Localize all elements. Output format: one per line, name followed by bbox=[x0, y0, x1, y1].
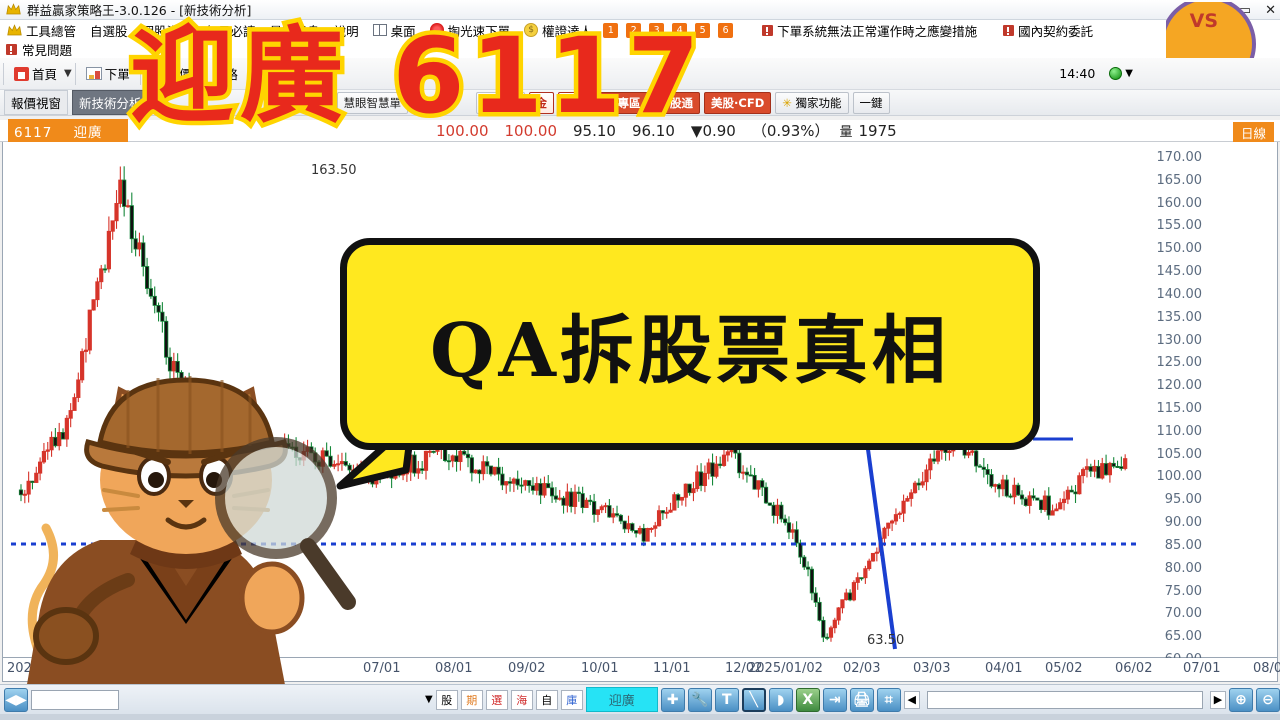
button-gold[interactable]: 金 bbox=[529, 92, 555, 114]
sub-menu-bar: 常見問題 bbox=[0, 40, 1280, 58]
small-tab-inventory[interactable]: 庫 bbox=[561, 690, 583, 710]
green-dot-icon bbox=[1109, 67, 1122, 80]
x-axis-tick: 02/03 bbox=[843, 661, 880, 676]
y-axis-tick: 120.00 bbox=[1138, 378, 1202, 393]
symbol-input[interactable] bbox=[31, 690, 119, 710]
toolbar-label: 報價 bbox=[167, 64, 192, 83]
x-axis-tick: 2025/01/02 bbox=[748, 661, 823, 676]
menu-label: 個股資訊 bbox=[142, 21, 192, 40]
tab-quote-window[interactable]: 報價視窗 bbox=[4, 90, 68, 115]
x-axis: 2024/07/0108/0109/0210/0111/0112/022025/… bbox=[2, 658, 1278, 682]
tab-new-technical-analysis[interactable]: 新技術分析 bbox=[72, 90, 149, 115]
application-window: 群益贏家策略王-3.0.126 - [新技術分析] — ▭ ✕ 工具總管 自選股… bbox=[0, 0, 1280, 720]
secondary-toolbar: 報價視窗 新技術分析 慧眼智慧單 新首頁 金 鉅 銖鋼專區 存股通 美股·CFD… bbox=[0, 90, 1280, 116]
button-savings-stock[interactable]: 存股通 bbox=[652, 92, 701, 114]
quick-badge-2[interactable]: 2 bbox=[626, 23, 641, 38]
y-axis-tick: 145.00 bbox=[1138, 264, 1202, 279]
divider bbox=[140, 63, 141, 85]
quote-high: 100.00 bbox=[497, 122, 566, 140]
button-steel-zone[interactable]: 銖鋼專區 bbox=[588, 92, 648, 114]
scroll-left-button[interactable]: ◀ bbox=[904, 691, 920, 709]
menu-label: 桌面 bbox=[391, 21, 416, 40]
y-axis-tick: 90.00 bbox=[1138, 515, 1202, 530]
avatar: VS bbox=[1166, 2, 1270, 58]
x-axis-tick: 07/01 bbox=[363, 661, 400, 676]
menu-item-stock-info[interactable]: 個股資訊 bbox=[135, 20, 199, 40]
y-axis-tick: 85.00 bbox=[1138, 538, 1202, 553]
symbol-chip[interactable]: 6117 迎廣 bbox=[8, 119, 128, 143]
notice-label: 下單系統無法正常運作時之應變措施 bbox=[777, 21, 977, 40]
y-axis-tick: 150.00 bbox=[1138, 241, 1202, 256]
chevron-down-icon[interactable]: ▼ bbox=[425, 694, 433, 705]
y-axis-tick: 100.00 bbox=[1138, 469, 1202, 484]
horizontal-scrollbar[interactable] bbox=[927, 691, 1203, 709]
menu-item-desktop[interactable]: 桌面 bbox=[366, 20, 423, 40]
avatar-vs-label: VS bbox=[1190, 10, 1218, 32]
toolbar-label: 策略 bbox=[213, 64, 238, 83]
toolbar-label: 下單 bbox=[105, 64, 130, 83]
volume-label: 量 bbox=[838, 121, 855, 140]
small-tab-options[interactable]: 選 bbox=[486, 690, 508, 710]
notice-domestic-contract[interactable]: 國內契約委託 bbox=[996, 20, 1100, 40]
text-icon[interactable]: T bbox=[715, 688, 739, 712]
notice-label: 國內契約委託 bbox=[1018, 21, 1093, 40]
y-axis-tick: 65.00 bbox=[1138, 629, 1202, 644]
menu-item-help[interactable]: 說明 bbox=[327, 20, 366, 40]
symbol-name: 迎廣 bbox=[74, 125, 103, 141]
connection-status[interactable]: ▼ bbox=[1102, 59, 1140, 89]
x-axis-tick: 04/01 bbox=[985, 661, 1022, 676]
y-axis-tick: 110.00 bbox=[1138, 424, 1202, 439]
toolbar-quote[interactable]: 報價 bbox=[144, 59, 199, 89]
menu-label: 工具總管 bbox=[26, 21, 76, 40]
alert-icon bbox=[1003, 25, 1014, 36]
crop-icon[interactable]: ⌗ bbox=[877, 688, 901, 712]
y-axis-tick: 130.00 bbox=[1138, 333, 1202, 348]
menu-bar: 工具總管 自選股 個股資訊 每日必讀 最新訊息 說明 桌面 掏光速下單 $ 權證… bbox=[0, 20, 1280, 40]
button-smart-order[interactable]: 慧眼智慧單 bbox=[337, 92, 409, 114]
x-axis-tick: 09/02 bbox=[508, 661, 545, 676]
scroll-right-button[interactable]: ▶ bbox=[1210, 691, 1226, 709]
x-axis-tick: 07/01 bbox=[1183, 661, 1220, 676]
desktop-icon bbox=[373, 24, 387, 36]
small-tab-futures[interactable]: 期 bbox=[461, 690, 483, 710]
x-axis-tick: 05/02 bbox=[1045, 661, 1082, 676]
divider bbox=[202, 63, 203, 85]
menu-label: 掏光速下單 bbox=[448, 21, 511, 40]
y-axis-tick: 165.00 bbox=[1138, 173, 1202, 188]
divider bbox=[248, 63, 249, 85]
symbol-code: 6117 bbox=[14, 125, 52, 141]
home-icon bbox=[14, 67, 29, 81]
menu-label: 說明 bbox=[334, 21, 359, 40]
y-axis-tick: 95.00 bbox=[1138, 492, 1202, 507]
quote-close: 96.10 bbox=[624, 122, 683, 140]
quote-open: 100.00 bbox=[428, 122, 497, 140]
x-axis-tick: 08/01 bbox=[435, 661, 472, 676]
y-axis-tick: 170.00 bbox=[1138, 150, 1202, 165]
button-us-stock-cfd[interactable]: 美股·CFD bbox=[704, 92, 771, 114]
chevron-down-icon[interactable]: ▼ bbox=[1125, 68, 1133, 79]
arrows-lr-icon[interactable]: ◀▶ bbox=[4, 688, 28, 712]
x-axis-tick: 08/01 bbox=[1253, 661, 1280, 676]
y-axis-tick: 75.00 bbox=[1138, 584, 1202, 599]
trendline-icon[interactable]: ╲ bbox=[742, 688, 766, 712]
y-axis-tick: 70.00 bbox=[1138, 606, 1202, 621]
quick-badge-4[interactable]: 4 bbox=[672, 23, 687, 38]
excel-icon[interactable]: X bbox=[796, 688, 820, 712]
x-axis-tick: 11/01 bbox=[653, 661, 690, 676]
zoom-out-icon[interactable]: ⊖ bbox=[1256, 688, 1280, 712]
tab-right-icon[interactable]: ⇥ bbox=[823, 688, 847, 712]
quote-bar: 6117 迎廣 100.00 100.00 95.10 96.10 ▼0.90 … bbox=[0, 120, 1280, 142]
clock-label: 14:40 bbox=[1059, 66, 1095, 81]
y-axis-tick: 105.00 bbox=[1138, 447, 1202, 462]
quote-change-pct: （0.93%） bbox=[744, 120, 838, 141]
crown-icon bbox=[7, 24, 22, 37]
toolbar-time: 14:40 bbox=[1052, 59, 1102, 89]
button-one-click[interactable]: 一鍵 bbox=[853, 92, 890, 114]
crown-icon bbox=[6, 3, 21, 16]
small-tab-stock[interactable]: 股 bbox=[436, 690, 458, 710]
x-axis-tick: 03/03 bbox=[913, 661, 950, 676]
toolbar-strategy[interactable]: 策略 bbox=[206, 59, 245, 89]
toolbar-order[interactable]: 下單 bbox=[79, 59, 137, 89]
taskbar-strip bbox=[0, 714, 1280, 720]
x-axis-tick: 06/02 bbox=[1115, 661, 1152, 676]
menu-label: 最新訊息 bbox=[270, 21, 320, 40]
alert-icon bbox=[762, 25, 773, 36]
toolbar-label: 首頁 bbox=[32, 64, 57, 83]
yellow-coin-icon: $ bbox=[524, 23, 538, 37]
zoom-in-icon[interactable]: ⊕ bbox=[1229, 688, 1253, 712]
period-chip[interactable]: 日線 bbox=[1233, 122, 1274, 143]
menu-label: 自選股 bbox=[90, 21, 128, 40]
eraser-icon[interactable]: ◗ bbox=[769, 688, 793, 712]
x-axis-tick: 10/01 bbox=[581, 661, 618, 676]
toolbar-combo[interactable]: 組合 bbox=[252, 59, 291, 89]
order-chart-icon bbox=[86, 67, 102, 80]
menu-item-daily[interactable]: 每日必讀 bbox=[199, 20, 263, 40]
notice-order-system[interactable]: 下單系統無法正常運作時之應變措施 bbox=[755, 20, 984, 40]
y-axis-tick: 135.00 bbox=[1138, 310, 1202, 325]
quote-low: 95.10 bbox=[565, 122, 624, 140]
wrench-icon[interactable]: 🔧 bbox=[688, 688, 712, 712]
menu-item-fast-order[interactable]: 掏光速下單 bbox=[423, 20, 518, 40]
quote-doc-icon bbox=[151, 67, 164, 81]
y-axis-tick: 115.00 bbox=[1138, 401, 1202, 416]
menu-label: 每日必讀 bbox=[206, 21, 256, 40]
y-axis-tick: 160.00 bbox=[1138, 196, 1202, 211]
x-axis-tick: 2024/ bbox=[7, 661, 44, 676]
y-axis-tick: 80.00 bbox=[1138, 561, 1202, 576]
active-symbol-chip[interactable]: 迎廣 bbox=[586, 687, 658, 712]
submenu-item-faq[interactable]: 常見問題 bbox=[22, 40, 72, 59]
red-burst-icon bbox=[430, 23, 444, 37]
alert-icon bbox=[6, 44, 17, 55]
menu-item-watchlist[interactable]: 自選股 bbox=[83, 20, 135, 40]
quick-badge-3[interactable]: 3 bbox=[649, 23, 664, 38]
main-toolbar: 首頁 ▼ 下單 報價 策略 組合 14:40 ▼ bbox=[0, 58, 1280, 90]
y-axis-tick: 140.00 bbox=[1138, 287, 1202, 302]
high-annotation: 163.50 bbox=[311, 163, 357, 178]
divider bbox=[75, 63, 76, 85]
low-annotation: 63.50 bbox=[867, 633, 904, 648]
button-new-home[interactable]: 新首頁 bbox=[476, 92, 525, 114]
toolbar-label: 組合 bbox=[259, 64, 284, 83]
small-tab-self[interactable]: 自 bbox=[536, 690, 558, 710]
small-tab-overseas[interactable]: 海 bbox=[511, 690, 533, 710]
quick-badge-1[interactable]: 1 bbox=[603, 23, 618, 38]
menu-item-tools[interactable]: 工具總管 bbox=[0, 20, 83, 40]
menu-label: 權證達人 bbox=[542, 21, 592, 40]
button-ju[interactable]: 鉅 bbox=[558, 92, 584, 114]
plus-icon[interactable]: ✚ bbox=[661, 688, 685, 712]
y-axis: 170.00165.00160.00155.00150.00145.00140.… bbox=[1186, 142, 1278, 658]
quick-badge-5[interactable]: 5 bbox=[695, 23, 710, 38]
window-title: 群益贏家策略王-3.0.126 - [新技術分析] bbox=[27, 0, 251, 19]
quote-change: ▼0.90 bbox=[683, 122, 744, 140]
menu-item-news[interactable]: 最新訊息 bbox=[263, 20, 327, 40]
printer-icon[interactable]: 🖨 bbox=[850, 688, 874, 712]
y-axis-tick: 155.00 bbox=[1138, 218, 1202, 233]
chevron-down-icon[interactable]: ▼ bbox=[64, 68, 72, 79]
title-bar: 群益贏家策略王-3.0.126 - [新技術分析] — ▭ ✕ bbox=[0, 0, 1280, 20]
volume-value: 1975 bbox=[855, 122, 901, 140]
menu-item-warrant-expert[interactable]: $ 權證達人 bbox=[517, 20, 599, 40]
divider bbox=[3, 63, 4, 85]
bottom-toolbar: ◀▶ ▼ 股 期 選 海 自 庫 迎廣 ✚ 🔧 T ╲ ◗ X ⇥ 🖨 ⌗ ◀ … bbox=[0, 684, 1280, 714]
quick-badge-6[interactable]: 6 bbox=[718, 23, 733, 38]
candlestick-plot: 163.50 63.50 bbox=[11, 144, 1179, 656]
toolbar-home[interactable]: 首頁 bbox=[7, 59, 64, 89]
chart-canvas[interactable]: 163.50 63.50 bbox=[2, 142, 1278, 658]
y-axis-tick: 125.00 bbox=[1138, 355, 1202, 370]
button-exclusive-features[interactable]: ✳ 獨家功能 bbox=[775, 92, 848, 114]
